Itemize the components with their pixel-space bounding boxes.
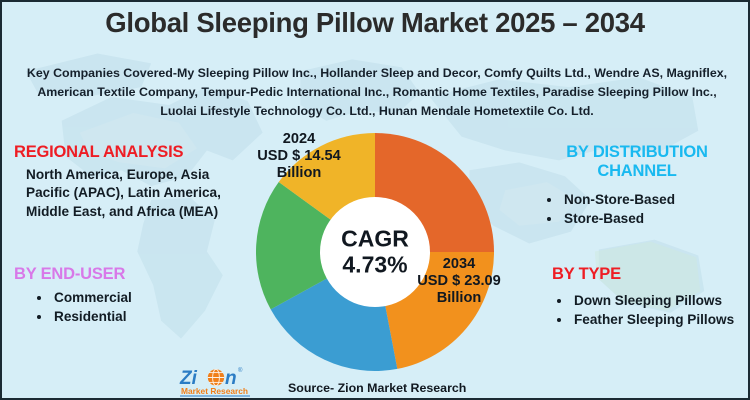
- by-type-list: Down Sleeping Pillows Feather Sleeping P…: [530, 291, 744, 329]
- regional-analysis-body: North America, Europe, Asia Pacific (APA…: [26, 166, 224, 221]
- logo-registered-mark: ®: [238, 367, 243, 374]
- logo-tagline: Market Research: [181, 386, 248, 396]
- by-distribution-channel-heading: BY DISTRIBUTION CHANNEL: [530, 143, 744, 181]
- source-text: Source- Zion Market Research: [288, 381, 466, 395]
- block-by-end-user: BY END-USER Commercial Residential: [14, 265, 224, 326]
- block-regional-analysis: REGIONAL ANALYSIS North America, Europe,…: [14, 143, 224, 221]
- callout-2034-year: 2034: [394, 256, 524, 273]
- callout-2034-value: USD $ 23.09: [394, 273, 524, 290]
- by-distribution-channel-list: Non-Store-Based Store-Based: [530, 190, 744, 228]
- list-item: Commercial: [52, 288, 224, 307]
- callout-2034: 2034 USD $ 23.09 Billion: [394, 256, 524, 308]
- page-title: Global Sleeping Pillow Market 2025 – 203…: [2, 8, 748, 38]
- list-item: Residential: [52, 307, 224, 326]
- by-type-heading: BY TYPE: [552, 265, 744, 284]
- key-companies-text: Key Companies Covered-My Sleeping Pillow…: [24, 64, 730, 122]
- header: Global Sleeping Pillow Market 2025 – 203…: [2, 8, 748, 38]
- block-by-distribution-channel: BY DISTRIBUTION CHANNEL Non-Store-Based …: [530, 143, 744, 228]
- callout-2024-year: 2024: [234, 131, 364, 148]
- list-item: Store-Based: [562, 209, 744, 228]
- list-item: Non-Store-Based: [562, 190, 744, 209]
- callout-2034-unit: Billion: [394, 290, 524, 307]
- by-end-user-list: Commercial Residential: [14, 288, 224, 326]
- callout-2024: 2024 USD $ 14.54 Billion: [234, 131, 364, 183]
- callout-2024-value: USD $ 14.54: [234, 148, 364, 165]
- block-by-type: BY TYPE Down Sleeping Pillows Feather Sl…: [530, 265, 744, 329]
- infographic-canvas: Global Sleeping Pillow Market 2025 – 203…: [0, 0, 750, 400]
- regional-analysis-heading: REGIONAL ANALYSIS: [14, 143, 224, 162]
- list-item: Feather Sleeping Pillows: [572, 310, 744, 329]
- callout-2024-unit: Billion: [234, 165, 364, 182]
- by-end-user-heading: BY END-USER: [14, 265, 224, 284]
- list-item: Down Sleeping Pillows: [572, 291, 744, 310]
- zion-market-research-logo: Zi n ® Market Research: [178, 364, 276, 398]
